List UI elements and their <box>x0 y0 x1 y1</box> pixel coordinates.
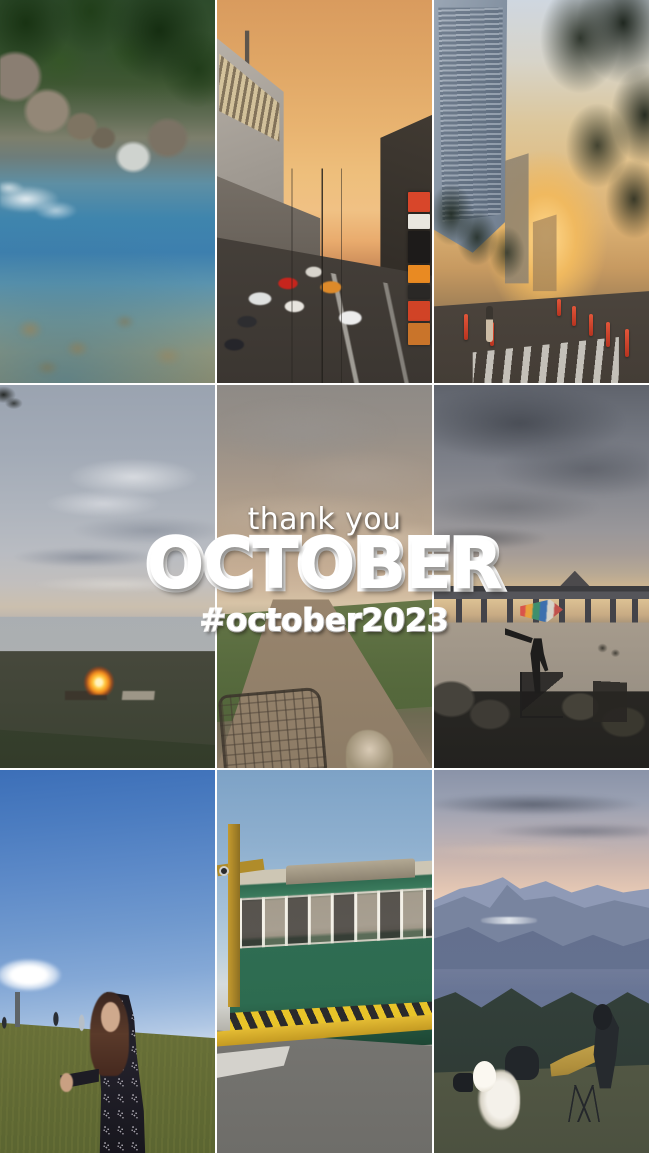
photo-tile-dirt-road[interactable] <box>217 385 432 768</box>
boulevard-pedestrian <box>486 306 493 342</box>
kite-shore-plant <box>593 638 627 722</box>
boulevard-red-bollards <box>434 0 649 383</box>
photo-tile-train[interactable] <box>217 770 432 1153</box>
bonfire-driftwood-logs <box>65 691 168 700</box>
crossing-signal-light <box>219 866 229 876</box>
train-windows <box>239 887 433 948</box>
crossing-signal-pole <box>228 824 240 1008</box>
photo-tile-mountain-camp[interactable] <box>434 770 649 1153</box>
bonfire-tree-branches <box>0 385 43 439</box>
photo-collage-grid: thank you OCTOBER #october2023 <box>0 0 649 1153</box>
photo-tile-grassy-hill[interactable] <box>0 770 215 1153</box>
distant-lake-glint <box>481 917 537 923</box>
photo-tile-boulevard[interactable] <box>434 0 649 383</box>
korean-signage-stack <box>408 192 430 353</box>
woman-hand <box>60 1073 73 1092</box>
kite-camp-chair <box>520 672 563 718</box>
bicycle-basket <box>218 687 328 768</box>
photo-tile-kite-bridge[interactable] <box>434 385 649 768</box>
white-poodle-head <box>473 1061 497 1092</box>
photo-tile-city-street[interactable] <box>217 0 432 383</box>
photo-tile-bonfire[interactable] <box>0 385 215 768</box>
camp-chair-legs <box>557 1085 611 1122</box>
river-pebbles-layer <box>0 0 215 383</box>
mountain-person-shoe <box>453 1073 472 1092</box>
photo-tile-river[interactable] <box>0 0 215 383</box>
bonfire-flames <box>82 665 116 695</box>
